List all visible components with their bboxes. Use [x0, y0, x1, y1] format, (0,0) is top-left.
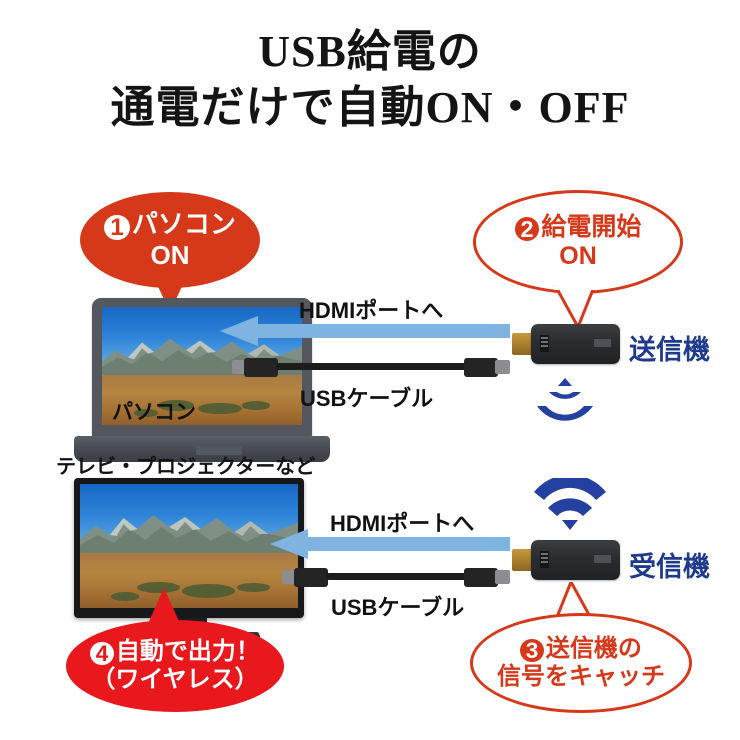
infographic-canvas: USB給電の 通電だけで自動ON・OFF 1パソコン ON 2給電開始 ON [0, 0, 740, 740]
usb-plug-left-bottom [294, 568, 328, 587]
usb-cable-top [232, 356, 510, 378]
callout-4-line-1: 4自動で出力！ [66, 638, 284, 666]
title-line-1: USB給電の [0, 26, 740, 78]
usb-plug-tip-right-bottom [495, 570, 510, 584]
callout-2-number: 2 [515, 217, 540, 242]
transmitter-label: 送信機 [629, 328, 710, 367]
tv-screen [80, 484, 298, 608]
usb-cable-line [276, 363, 468, 370]
callout-bubble-2: 2給電開始 ON [473, 190, 683, 294]
callout-1-number: 1 [104, 215, 130, 241]
callout-bubble-3: 3送信機の 信号をキャッチ [470, 613, 692, 713]
wifi-signal-up-icon [528, 478, 612, 532]
usb-cable-bottom [282, 566, 510, 588]
arrow-left-icon-bottom [270, 529, 510, 559]
usb-plug-left [244, 358, 278, 377]
callout-4-number: 4 [90, 642, 114, 666]
callout-bubble-1: 1パソコン ON [80, 192, 260, 288]
led-indicator-receiver [540, 551, 549, 568]
laptop-label: パソコン [112, 396, 196, 426]
callout-3-line-1: 3送信機の [473, 635, 689, 663]
receiver-dongle [512, 540, 620, 580]
led-indicator-transmitter [540, 335, 549, 352]
receiver-label: 受信機 [629, 545, 710, 584]
usb-cable-line-bottom [326, 573, 468, 580]
brand-mark-receiver [594, 555, 611, 563]
usb-plug-tip-right [495, 360, 510, 374]
callout-1-line-2: ON [80, 240, 260, 271]
transmitter-dongle [512, 324, 620, 364]
callout-3-number: 3 [520, 639, 544, 663]
callout-3-line-2: 信号をキャッチ [473, 663, 689, 691]
arrow-left-icon-top [220, 316, 510, 346]
brand-mark-transmitter [594, 339, 611, 347]
wifi-signal-down-icon [525, 376, 605, 424]
callout-2-line-2: ON [476, 242, 680, 272]
callout-bubble-4: 4自動で出力！ （ワイヤレス） [66, 620, 284, 712]
usb-plug-right-bottom [464, 568, 498, 587]
callout-1-line-1: 1パソコン [80, 209, 260, 241]
callout-4-line-2: （ワイヤレス） [66, 666, 284, 694]
callout-2-line-1: 2給電開始 [476, 213, 680, 243]
tv-label: テレビ・プロジェクターなど [56, 450, 315, 479]
usb-plug-right [464, 358, 498, 377]
page-title: USB給電の 通電だけで自動ON・OFF [0, 26, 740, 134]
callout-2-tail [552, 285, 598, 329]
mountain-landscape-image-tv [80, 484, 298, 608]
usb-label-top: USBケーブル [300, 381, 433, 413]
title-line-2: 通電だけで自動ON・OFF [0, 82, 740, 134]
usb-label-bottom: USBケーブル [331, 590, 464, 622]
